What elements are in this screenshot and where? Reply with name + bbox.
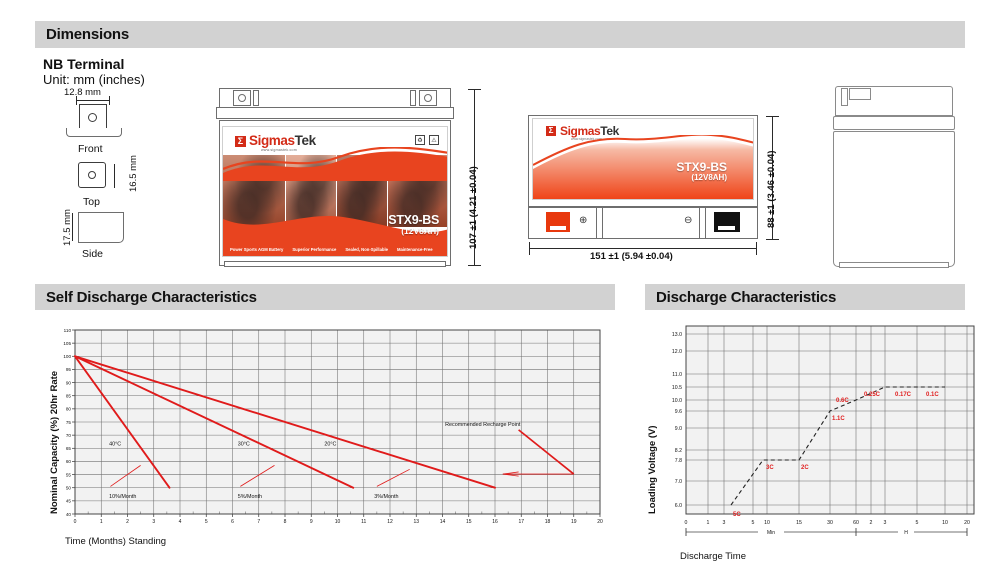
nb-terminal-title: NB Terminal bbox=[43, 56, 124, 72]
svg-text:2: 2 bbox=[126, 519, 129, 525]
photo-dirtbike bbox=[223, 155, 285, 227]
svg-text:20°C: 20°C bbox=[324, 442, 336, 448]
battery-model: STX9-BS bbox=[388, 213, 439, 227]
svg-text:5: 5 bbox=[916, 520, 919, 526]
svg-text:95: 95 bbox=[66, 367, 72, 372]
svg-text:10%/Month: 10%/Month bbox=[109, 494, 136, 500]
svg-text:0: 0 bbox=[74, 519, 77, 525]
bullet-3: Maintenance-Free bbox=[397, 247, 433, 252]
battery-front-label: Σ SigmasTek www.sigmastek.com ♻ ⚠ STX9-B… bbox=[222, 126, 448, 257]
svg-text:10: 10 bbox=[942, 520, 948, 526]
svg-text:4: 4 bbox=[179, 519, 182, 525]
svg-text:3C: 3C bbox=[766, 465, 774, 471]
battery-front-vent-right bbox=[410, 90, 416, 106]
battery-end-lid bbox=[833, 116, 955, 130]
battery-end-foot bbox=[839, 262, 949, 268]
svg-text:5%/Month: 5%/Month bbox=[238, 494, 262, 500]
terminal-front-hole bbox=[88, 113, 97, 122]
svg-text:15: 15 bbox=[466, 519, 472, 525]
terminal-top-hole bbox=[88, 171, 96, 179]
battery-length-dim-line bbox=[529, 248, 757, 249]
negative-terminal-slot bbox=[718, 226, 735, 230]
svg-text:0.17C: 0.17C bbox=[895, 392, 912, 398]
brand-name: SigmasTek bbox=[249, 133, 316, 148]
datasheet-page: Dimensions NB Terminal Unit: mm (inches)… bbox=[0, 0, 1000, 580]
svg-text:11: 11 bbox=[361, 519, 366, 525]
terminal-width-tick-left bbox=[76, 96, 77, 105]
terminal-negative-symbol: ⊖ bbox=[684, 215, 692, 226]
svg-text:14: 14 bbox=[440, 519, 446, 525]
svg-text:3: 3 bbox=[723, 520, 726, 526]
battery-depth-tick-bottom bbox=[766, 239, 779, 240]
svg-text:40°C: 40°C bbox=[109, 442, 121, 448]
svg-text:0.1C: 0.1C bbox=[926, 392, 939, 398]
svg-text:20: 20 bbox=[597, 519, 603, 525]
svg-text:9.6: 9.6 bbox=[675, 409, 682, 415]
svg-text:H: H bbox=[904, 530, 908, 536]
svg-text:40: 40 bbox=[66, 512, 72, 517]
svg-text:10: 10 bbox=[335, 519, 341, 525]
label-bullets: Power Sports AGM Battery Superior Perfor… bbox=[223, 243, 448, 256]
svg-text:55: 55 bbox=[66, 472, 72, 477]
svg-text:75: 75 bbox=[66, 420, 72, 425]
svg-text:9: 9 bbox=[310, 519, 313, 525]
svg-text:12.0: 12.0 bbox=[672, 349, 682, 355]
svg-text:7.0: 7.0 bbox=[675, 479, 682, 485]
svg-text:1.1C: 1.1C bbox=[832, 416, 845, 422]
section-header-discharge: Discharge Characteristics bbox=[645, 284, 965, 310]
terminal-side-base bbox=[78, 212, 124, 243]
terminal-view-side-label: Side bbox=[82, 248, 103, 260]
terminal-width-tick-right bbox=[109, 96, 110, 105]
svg-text:8.2: 8.2 bbox=[675, 448, 682, 454]
section-title-dimensions: Dimensions bbox=[35, 26, 129, 43]
svg-text:50: 50 bbox=[66, 486, 72, 491]
svg-text:1: 1 bbox=[100, 519, 103, 525]
section-header-self-discharge: Self Discharge Characteristics bbox=[35, 284, 615, 310]
svg-text:16: 16 bbox=[492, 519, 498, 525]
battery-side-vent-left bbox=[596, 207, 603, 239]
svg-text:3: 3 bbox=[884, 520, 887, 526]
svg-text:2C: 2C bbox=[801, 465, 809, 471]
svg-text:30°C: 30°C bbox=[238, 442, 250, 448]
svg-text:60: 60 bbox=[66, 459, 72, 464]
svg-text:5: 5 bbox=[752, 520, 755, 526]
svg-text:0.25C: 0.25C bbox=[864, 392, 881, 398]
terminal-height-label: 16.5 mm bbox=[128, 155, 139, 192]
svg-text:Recommended Recharge Point: Recommended Recharge Point bbox=[445, 422, 521, 428]
svg-text:0.6C: 0.6C bbox=[836, 398, 849, 404]
battery-depth-tick-top bbox=[766, 116, 779, 117]
svg-text:70: 70 bbox=[66, 433, 72, 438]
svg-text:2: 2 bbox=[870, 520, 873, 526]
svg-text:10: 10 bbox=[764, 520, 770, 526]
positive-terminal-slot bbox=[550, 226, 566, 230]
photo-snowmobile bbox=[286, 155, 336, 227]
svg-text:30: 30 bbox=[827, 520, 833, 526]
svg-text:7.8: 7.8 bbox=[675, 458, 682, 464]
battery-height-dim-label: 107 ±1 (4.21 ±0.04) bbox=[468, 166, 479, 249]
svg-text:80: 80 bbox=[66, 407, 72, 412]
battery-length-tick-left bbox=[529, 242, 530, 255]
battery-front-terminal-left-hole bbox=[238, 94, 246, 102]
battery-end-vent-b bbox=[849, 88, 871, 100]
terminal-front-base bbox=[66, 128, 122, 137]
battery-model-side: STX9-BS bbox=[676, 160, 727, 174]
svg-text:110: 110 bbox=[64, 328, 72, 333]
brand-website: www.sigmastek.com bbox=[261, 148, 297, 152]
photo-atv bbox=[337, 155, 387, 227]
svg-text:19: 19 bbox=[571, 519, 577, 525]
svg-text:65: 65 bbox=[66, 446, 72, 451]
battery-side-label: Σ SigmasTek www.sigmastek.com STX9-BS (1… bbox=[532, 118, 754, 200]
svg-text:90: 90 bbox=[66, 380, 72, 385]
bullet-1: Superior Performance bbox=[292, 247, 336, 252]
svg-text:60: 60 bbox=[853, 520, 859, 526]
unit-note: Unit: mm (inches) bbox=[43, 72, 145, 87]
bullet-0: Power Sports AGM Battery bbox=[230, 247, 283, 252]
battery-end-vent-a bbox=[841, 88, 848, 106]
svg-text:10.5: 10.5 bbox=[672, 385, 682, 391]
recycle-icon: ♻ bbox=[415, 135, 425, 145]
svg-text:11.0: 11.0 bbox=[672, 372, 682, 378]
battery-height-dim-tick-bottom bbox=[468, 265, 481, 266]
svg-text:0: 0 bbox=[685, 520, 688, 526]
svg-text:1: 1 bbox=[707, 520, 710, 526]
svg-text:17: 17 bbox=[518, 519, 524, 525]
self-discharge-chart: Nominal Capacity (%) 20hr Rate Time (Mon… bbox=[35, 318, 615, 568]
discharge-chart: Loading Voltage (V) Discharge Time 6.07.… bbox=[640, 318, 990, 573]
sigmastek-logo-icon: Σ bbox=[235, 136, 246, 147]
battery-end-body bbox=[833, 131, 955, 267]
svg-text:3%/Month: 3%/Month bbox=[374, 494, 398, 500]
battery-side-vent-right bbox=[699, 207, 706, 239]
svg-text:15: 15 bbox=[796, 520, 802, 526]
terminal-width-label: 12.8 mm bbox=[64, 87, 101, 98]
svg-text:85: 85 bbox=[66, 394, 72, 399]
terminal-view-top-label: Top bbox=[83, 196, 100, 208]
battery-capacity: (12V8AH) bbox=[401, 226, 439, 236]
section-title-self-discharge: Self Discharge Characteristics bbox=[35, 289, 257, 306]
svg-text:10.0: 10.0 bbox=[672, 398, 682, 404]
battery-front-foot bbox=[224, 261, 446, 267]
terminal-depth-label: 17.5 mm bbox=[62, 209, 73, 246]
svg-text:12: 12 bbox=[387, 519, 393, 525]
battery-length-dim-label: 151 ±1 (5.94 ±0.04) bbox=[590, 251, 673, 262]
svg-text:18: 18 bbox=[545, 519, 551, 525]
svg-text:45: 45 bbox=[66, 499, 72, 504]
battery-capacity-side: (12V8AH) bbox=[691, 173, 727, 182]
svg-text:13: 13 bbox=[413, 519, 419, 525]
svg-text:105: 105 bbox=[63, 341, 71, 346]
svg-text:7: 7 bbox=[257, 519, 260, 525]
battery-depth-dim-label: 88 ±1 (3.46 ±0.04) bbox=[766, 150, 777, 228]
battery-height-dim-tick-top bbox=[468, 89, 481, 90]
svg-text:5: 5 bbox=[205, 519, 208, 525]
terminal-positive-symbol: ⊕ bbox=[579, 215, 587, 226]
svg-text:5C: 5C bbox=[733, 512, 741, 518]
battery-length-tick-right bbox=[756, 242, 757, 255]
terminal-width-arrow bbox=[76, 100, 110, 101]
svg-text:9.0: 9.0 bbox=[675, 426, 682, 432]
discharge-plot: 6.07.07.88.29.09.610.010.511.012.013.001… bbox=[640, 318, 990, 573]
battery-front-terminal-right-hole bbox=[424, 94, 432, 102]
svg-text:6: 6 bbox=[231, 519, 234, 525]
self-discharge-plot: 4045505560657075808590951001051100123456… bbox=[35, 318, 615, 568]
svg-text:3: 3 bbox=[152, 519, 155, 525]
section-header-dimensions: Dimensions bbox=[35, 21, 965, 48]
svg-text:8: 8 bbox=[284, 519, 287, 525]
terminal-view-front-label: Front bbox=[78, 143, 103, 155]
svg-text:100: 100 bbox=[63, 354, 71, 359]
no-fire-icon: ⚠ bbox=[429, 135, 439, 145]
battery-front-vent-left bbox=[253, 90, 259, 106]
section-title-discharge: Discharge Characteristics bbox=[645, 289, 836, 306]
battery-front-lid bbox=[216, 107, 454, 119]
terminal-height-arrow bbox=[114, 164, 115, 188]
svg-text:6.0: 6.0 bbox=[675, 503, 682, 509]
svg-text:13.0: 13.0 bbox=[672, 332, 682, 338]
svg-text:20: 20 bbox=[964, 520, 970, 526]
svg-text:Min: Min bbox=[767, 530, 775, 536]
bullet-2: Sealed, Non-Spillable bbox=[345, 247, 388, 252]
